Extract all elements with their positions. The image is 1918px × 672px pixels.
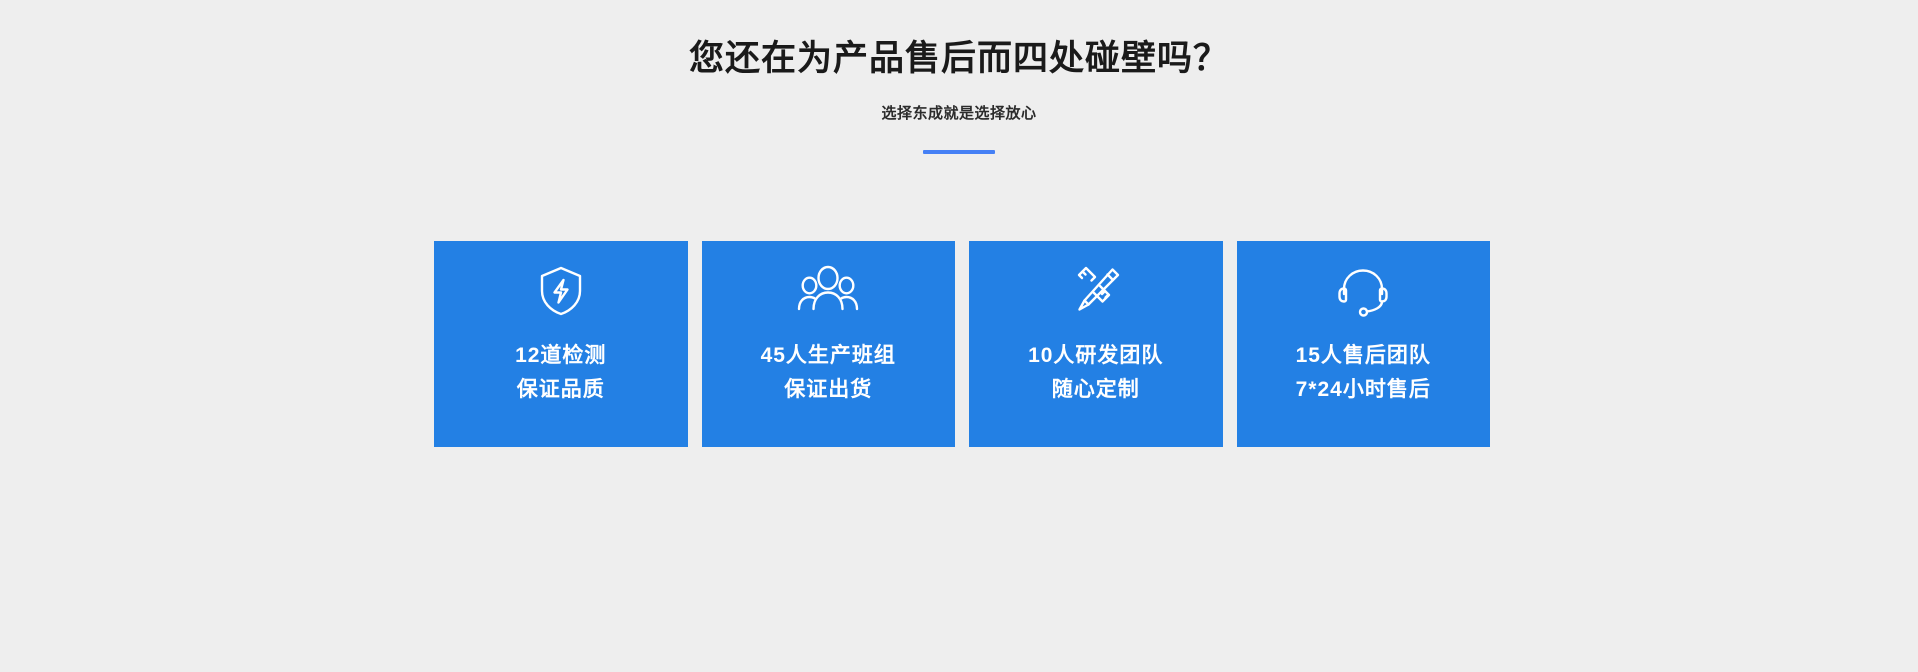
feature-card-text: 15人售后团队 7*24小时售后 [1296, 339, 1431, 407]
page-title: 您还在为产品售后而四处碰壁吗？ [0, 38, 1918, 80]
promo-page: 您还在为产品售后而四处碰壁吗？ 选择东成就是选择放心 12道检测 保证品质 [0, 0, 1918, 672]
feature-card-text: 45人生产班组 保证出货 [761, 339, 896, 407]
pencil-ruler-icon [1064, 259, 1128, 323]
feature-card-rnd[interactable]: 10人研发团队 随心定制 [969, 241, 1223, 447]
shield-bolt-icon [529, 259, 593, 323]
feature-card-text: 10人研发团队 随心定制 [1028, 339, 1163, 407]
divider-wrap [0, 149, 1918, 155]
feature-card-list: 12道检测 保证品质 45人生产班组 保证出货 [434, 241, 1490, 447]
feature-card-production[interactable]: 45人生产班组 保证出货 [702, 241, 956, 447]
page-subtitle: 选择东成就是选择放心 [0, 102, 1918, 123]
feature-card-support[interactable]: 15人售后团队 7*24小时售后 [1237, 241, 1491, 447]
feature-line-1: 10人研发团队 [1028, 339, 1163, 373]
header-section: 您还在为产品售后而四处碰壁吗？ 选择东成就是选择放心 [0, 0, 1918, 155]
feature-card-quality[interactable]: 12道检测 保证品质 [434, 241, 688, 447]
people-group-icon [796, 259, 860, 323]
feature-line-1: 15人售后团队 [1296, 339, 1431, 373]
feature-line-2: 保证品质 [515, 373, 606, 407]
feature-line-2: 7*24小时售后 [1296, 373, 1431, 407]
feature-line-2: 保证出货 [761, 373, 896, 407]
feature-line-2: 随心定制 [1028, 373, 1163, 407]
divider-bar [923, 150, 995, 154]
feature-line-1: 12道检测 [515, 339, 606, 373]
feature-card-text: 12道检测 保证品质 [515, 339, 606, 407]
feature-line-1: 45人生产班组 [761, 339, 896, 373]
headset-icon [1331, 259, 1395, 323]
